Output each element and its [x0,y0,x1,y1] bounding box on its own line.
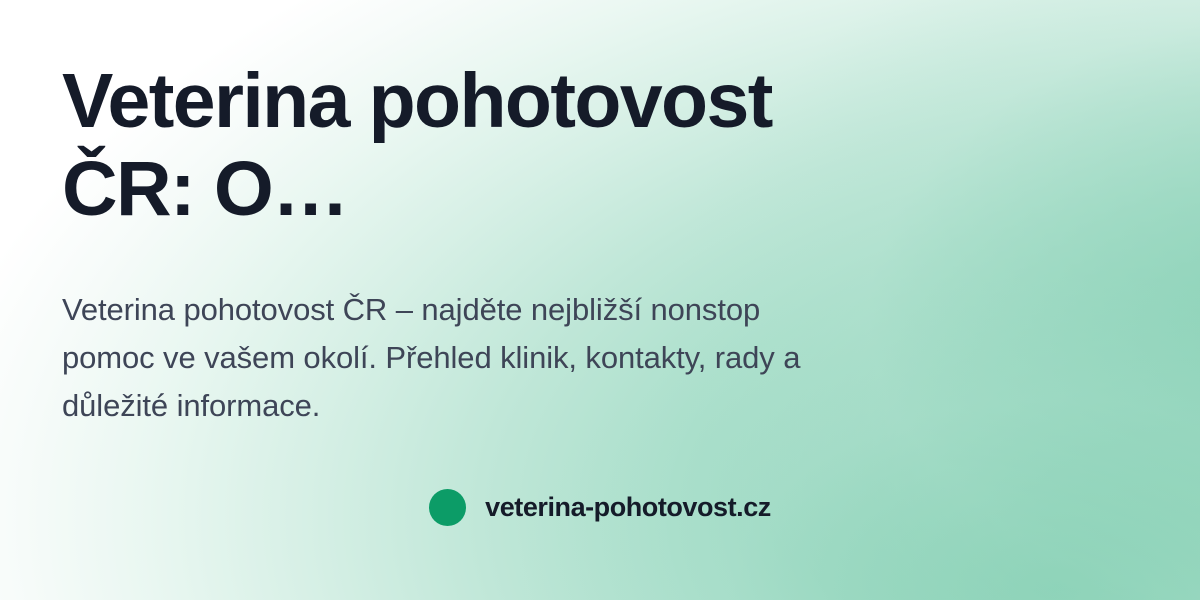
card-content: Veterina pohotovost ČR: O… Veterina poho… [0,0,1200,600]
brand-dot-icon [429,489,466,526]
page-title: Veterina pohotovost ČR: O… [62,57,782,233]
page-description: Veterina pohotovost ČR – najděte nejbliž… [62,286,802,430]
site-domain-label: veterina-pohotovost.cz [485,489,771,526]
site-badge: veterina-pohotovost.cz [0,489,1200,526]
og-share-card: Veterina pohotovost ČR: O… Veterina poho… [0,0,1200,600]
